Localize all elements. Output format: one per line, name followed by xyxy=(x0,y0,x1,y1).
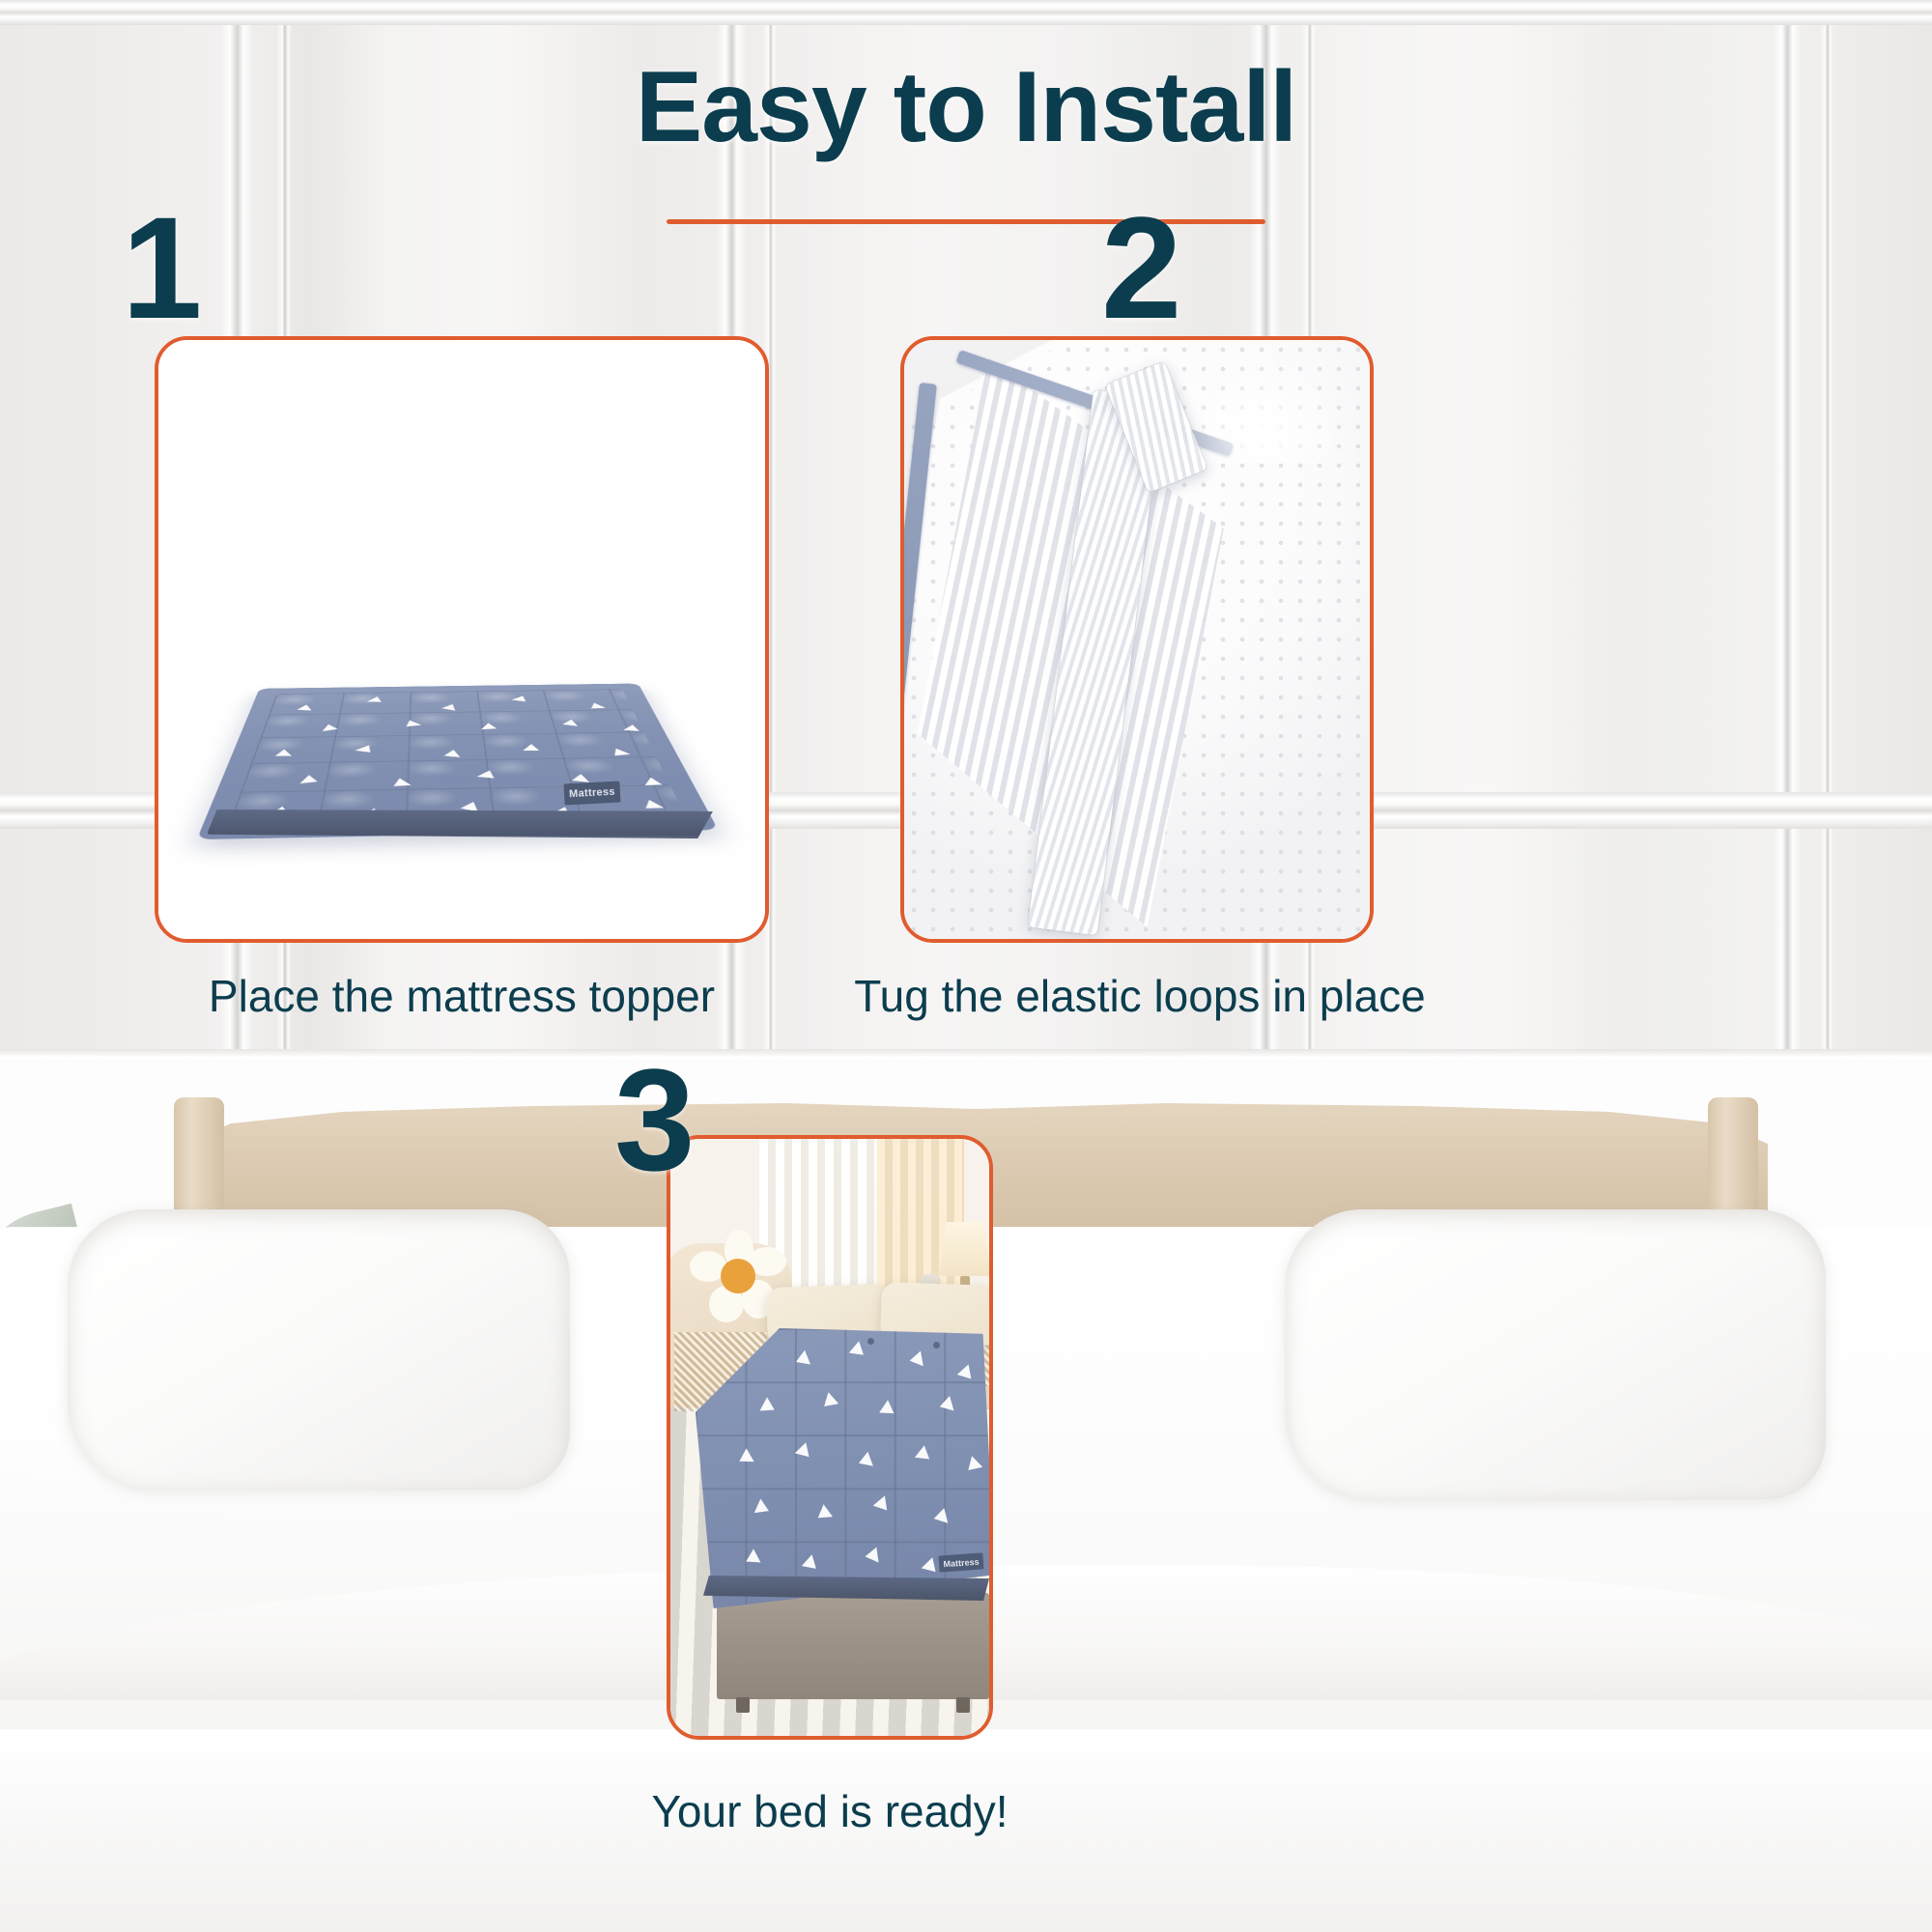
triangle-motif xyxy=(388,779,412,790)
bed-foot xyxy=(736,1697,750,1713)
triangle-motif xyxy=(624,724,644,734)
step-3-number: 3 xyxy=(614,1055,730,1185)
mattress-topper-object xyxy=(199,448,721,835)
triangle-motif xyxy=(477,770,500,781)
triangle-motif xyxy=(440,750,460,759)
page-title: Easy to Install xyxy=(0,50,1932,165)
triangle-motif xyxy=(440,704,456,712)
triangle-motif xyxy=(559,720,578,728)
triangle-motif xyxy=(366,696,386,704)
bed-foot xyxy=(956,1697,970,1713)
brand-label: Mattress xyxy=(938,1552,983,1572)
infographic-canvas: Easy to Install xyxy=(0,0,1932,1932)
step-2-number: 2 xyxy=(1101,203,1217,333)
wall-chair-rail xyxy=(0,0,1932,25)
triangle-motif xyxy=(481,723,500,731)
triangle-motif xyxy=(645,778,666,789)
triangle-motif xyxy=(639,800,665,812)
step-1-photo: Mattress xyxy=(158,340,765,939)
triangle-motif xyxy=(299,775,322,785)
wall-moulding-seam xyxy=(1774,0,1801,1121)
fabric-peak-highlight xyxy=(1194,340,1368,464)
triangle-motif xyxy=(864,1548,878,1565)
daisy-center xyxy=(721,1259,755,1293)
triangle-motif xyxy=(512,696,532,703)
step-1-caption: Place the mattress topper xyxy=(58,970,866,1022)
brand-label: Mattress xyxy=(563,781,620,805)
triangle-motif xyxy=(524,744,544,753)
step-3-photo: Mattress xyxy=(670,1139,989,1736)
topper-corner-snap xyxy=(933,1342,940,1349)
wall-moulding-seam xyxy=(1820,0,1833,1121)
topper-corner-snap xyxy=(867,1338,874,1345)
step-3-card: Mattress xyxy=(667,1135,993,1740)
triangle-motif xyxy=(271,750,292,760)
bed-base xyxy=(717,1593,989,1699)
step-2-caption: Tug the elastic loops in place xyxy=(782,970,1497,1022)
triangle-motif xyxy=(322,724,340,733)
bed-pillow-left xyxy=(68,1209,570,1490)
step-2-photo xyxy=(904,340,1370,939)
bed-pillow-right xyxy=(1285,1209,1826,1499)
step-2-card xyxy=(900,336,1374,943)
topper-side-band xyxy=(207,810,713,838)
triangle-motif xyxy=(608,749,631,759)
step-3-caption: Your bed is ready! xyxy=(540,1785,1120,1837)
quilt-puff-highlight xyxy=(227,689,688,829)
triangle-motif xyxy=(295,704,312,713)
quilt-stitch-grid xyxy=(227,689,688,829)
table-lamp-shade xyxy=(939,1222,989,1276)
step-1-number: 1 xyxy=(122,203,238,333)
triangle-motif xyxy=(355,745,378,754)
step-1-card: Mattress xyxy=(155,336,769,943)
triangle-motif xyxy=(585,703,606,712)
triangle-motif xyxy=(401,721,422,729)
triangle-motif xyxy=(908,1351,923,1369)
